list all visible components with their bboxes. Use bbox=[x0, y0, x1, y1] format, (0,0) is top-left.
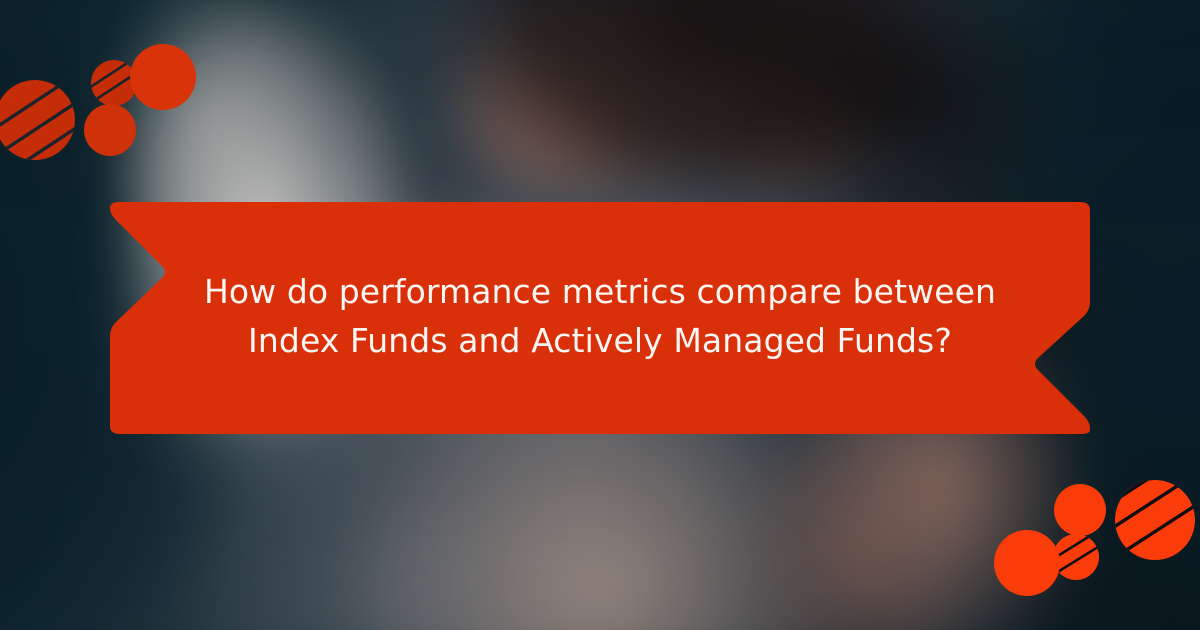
social-card: How do performance metrics compare betwe… bbox=[0, 0, 1200, 630]
medium-plain-circle bbox=[1054, 484, 1106, 536]
medium-plain-circle bbox=[84, 104, 136, 156]
large-striped-circle bbox=[0, 72, 88, 175]
title-line-1: How do performance metrics compare betwe… bbox=[204, 267, 996, 316]
title-ribbon: How do performance metrics compare betwe… bbox=[110, 198, 1090, 434]
large-plain-circle bbox=[994, 530, 1060, 596]
circle-cluster-bottom-right bbox=[990, 470, 1200, 610]
circle-cluster-top-left bbox=[0, 20, 210, 175]
large-plain-circle bbox=[130, 44, 196, 110]
large-striped-circle bbox=[1100, 470, 1200, 562]
title-line-2: Index Funds and Actively Managed Funds? bbox=[248, 316, 952, 365]
ribbon-title-block: How do performance metrics compare betwe… bbox=[110, 198, 1090, 434]
